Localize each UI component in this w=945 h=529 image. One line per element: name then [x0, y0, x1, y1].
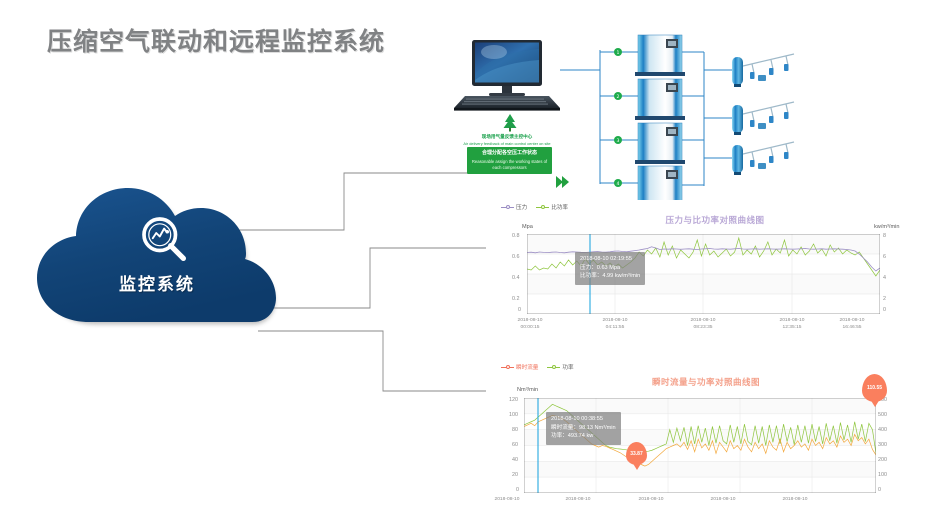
chart1-xtick: 2018-08-10 16:46:55: [822, 318, 882, 331]
chart1-ytick-left: 0.8: [512, 233, 520, 239]
chart1-xtick: 2018-08-10 04:11:55: [585, 318, 645, 331]
legend-item-specific-power[interactable]: 比功率: [536, 203, 568, 211]
chart2-ytick-left: 60: [512, 442, 518, 448]
working-state-note-cn: 合理分配各空压工作状态: [467, 150, 552, 156]
chart1-tooltip: 2018-08-10 02:19:55 压力：0.63 Mpa 比功率：4.99…: [575, 252, 645, 285]
working-state-note: 合理分配各空压工作状态 Reasonable assign the workin…: [467, 147, 552, 174]
chart1-ytick-left: 0.2: [512, 296, 520, 302]
chart2-xtick: 2018-08-10: [548, 497, 608, 504]
chart2-xtick: 2018-08-10: [477, 497, 537, 504]
chart1-left-axis-unit: Mpa: [522, 224, 533, 230]
chart2-ytick-left: 0: [516, 487, 519, 493]
chart2-ytick-right: 500: [878, 412, 887, 418]
air-receiver-group: [732, 142, 794, 175]
chart2-left-axis-unit: Nm³/min: [517, 387, 538, 393]
chart2-ytick-left: 80: [512, 427, 518, 433]
chart2-ytick-left: 120: [509, 397, 518, 403]
tree-icon: [504, 114, 517, 132]
compressor-unit: [635, 123, 685, 164]
chart1-tooltip-pressure: 压力：0.63 Mpa: [580, 264, 640, 273]
chart1-tooltip-specific-power: 比功率：4.99 kw/m³/min: [580, 272, 640, 281]
chart1-xtick: 2018-08-10 08:23:35: [673, 318, 733, 331]
monitor-icon: [454, 40, 560, 111]
compressor-unit: [635, 79, 685, 120]
chart2-ytick-right: 0: [878, 487, 881, 493]
chart2-tooltip: 2018-08-10 00:38:55 瞬时流量：98.13 Nm³/min 功…: [546, 412, 621, 445]
legend-marker-icon: [536, 204, 549, 210]
outlet-pipe-lines: [682, 52, 732, 186]
system-diagram-svg: 1 2 3 4: [432, 22, 944, 207]
chart1-ytick-right: 6: [883, 254, 886, 260]
system-diagram-panel: 1 2 3 4: [432, 22, 944, 207]
chart2-title: 瞬时流量与功率对照曲线图: [486, 376, 926, 388]
legend-marker-icon: [547, 364, 560, 370]
control-bus-lines: [560, 50, 638, 184]
chart1-ytick-right: 4: [883, 275, 886, 281]
chart2-tooltip-power: 功率：493.74 kw: [551, 432, 616, 441]
svg-text:4: 4: [617, 181, 620, 187]
chart2-ytick-right: 100: [878, 472, 887, 478]
chart1-ytick-left: 0.4: [512, 275, 520, 281]
chart1-xtick: 2018-08-10 12:35:15: [762, 318, 822, 331]
chart2-xtick: 2018-08-10: [621, 497, 681, 504]
right-arrow-icon: [556, 176, 569, 188]
page-title: 压缩空气联动和远程监控系统: [47, 22, 385, 58]
chart1-right-axis-unit: kw/m³/min: [874, 224, 899, 230]
chart2-marker-low-label: 33.87: [626, 442, 647, 465]
magnifier-chart-icon: [137, 212, 193, 268]
chart2-ytick-left: 100: [509, 412, 518, 418]
chart2-tooltip-flow: 瞬时流量：98.13 Nm³/min: [551, 424, 616, 433]
cloud-label: 监控系统: [33, 270, 281, 295]
chart2-ytick-left: 20: [512, 472, 518, 478]
chart1-xtick: 2018-08-10 00:00:15: [500, 318, 560, 331]
air-receiver-group: [732, 54, 794, 87]
chart2-xtick: 2018-08-10: [765, 497, 825, 504]
chart1-ytick-right: 8: [883, 233, 886, 239]
chart-pressure-vs-specific-power: 压力 比功率 压力与比功率对照曲线图 Mpa kw/m³/min 0.8 0.6…: [486, 200, 944, 340]
chart1-legend[interactable]: 压力 比功率: [501, 203, 568, 211]
chart1-ytick-right: 0: [883, 307, 886, 313]
legend-item-power[interactable]: 功率: [547, 363, 573, 371]
chart1-ytick-left: 0.6: [512, 254, 520, 260]
legend-marker-icon: [501, 364, 514, 370]
chart2-ytick-right: 400: [878, 427, 887, 433]
chart2-ytick-right: 200: [878, 457, 887, 463]
chart1-ytick-left: 0: [518, 307, 521, 313]
svg-text:2: 2: [617, 94, 620, 100]
chart2-legend[interactable]: 瞬时流量 功率: [501, 363, 574, 371]
legend-item-pressure[interactable]: 压力: [501, 203, 527, 211]
chart1-tooltip-timestamp: 2018-08-10 02:19:55: [580, 255, 640, 264]
legend-marker-icon: [501, 204, 514, 210]
chart2-marker-high-label: 110.55: [862, 374, 887, 402]
svg-text:3: 3: [617, 138, 620, 144]
chart2-ytick-left: 40: [512, 457, 518, 463]
chart-flow-vs-power: 瞬时流量 功率 瞬时流量与功率对照曲线图 Nm³/min 120 100 80 …: [486, 360, 944, 529]
working-state-note-en: Reasonable assign the working states of …: [470, 159, 549, 170]
air-receiver-group: [732, 102, 794, 135]
chart2-ytick-right: 300: [878, 442, 887, 448]
legend-item-flow[interactable]: 瞬时流量: [501, 363, 538, 371]
compressor-unit: [635, 35, 685, 76]
compressor-status-nodes: 1 2 3 4: [614, 48, 622, 187]
slide-canvas: 压缩空气联动和远程监控系统 监控系统: [0, 0, 945, 529]
svg-text:1: 1: [617, 50, 620, 56]
chart1-ytick-right: 2: [883, 296, 886, 302]
chart2-tooltip-timestamp: 2018-08-10 00:38:55: [551, 415, 616, 424]
monitoring-system-cloud[interactable]: 监控系统: [33, 186, 289, 334]
diagram-caption-en: Air delivery feedback of main control ce…: [459, 141, 555, 146]
chart2-xtick: 2018-08-10: [693, 497, 753, 504]
diagram-caption-cn: 现场用气量反馈主控中心: [459, 134, 555, 140]
